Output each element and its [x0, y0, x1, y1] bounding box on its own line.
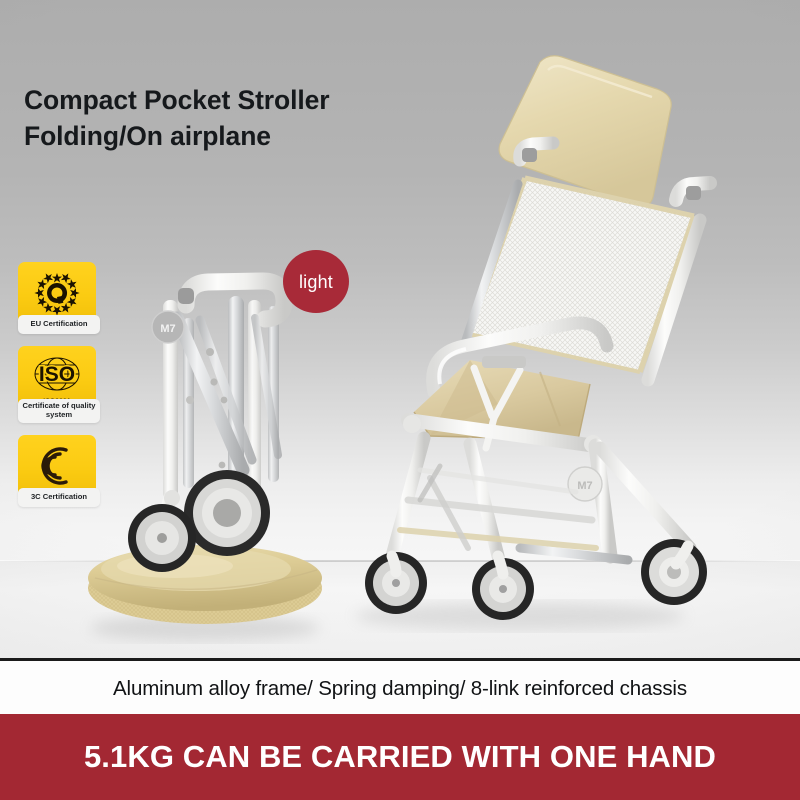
- svg-text:M7: M7: [577, 480, 592, 492]
- bubble-body: light: [283, 250, 349, 313]
- cert-label-eu: EU Certification: [18, 315, 100, 334]
- product-poster: M7: [0, 0, 800, 800]
- feature-caption-text: Aluminum alloy frame/ Spring damping/ 8-…: [113, 677, 687, 701]
- headline: Compact Pocket Stroller Folding/On airpl…: [24, 82, 494, 155]
- certification-badges: EU Certification ISO ISO9001 Certificate…: [18, 262, 108, 519]
- feature-caption-strip: Aluminum alloy frame/ Spring damping/ 8-…: [0, 658, 800, 717]
- cert-badge-iso: ISO ISO9001 Certificate of quality syste…: [18, 346, 96, 423]
- headline-line-1: Compact Pocket Stroller: [24, 82, 494, 118]
- cert-badge-3c: 3C Certification: [18, 435, 96, 507]
- cert-badge-eu: EU Certification: [18, 262, 96, 334]
- folded-wheel-front: [128, 504, 196, 572]
- weight-banner-text: 5.1KG CAN BE CARRIED WITH ONE HAND: [84, 739, 716, 775]
- weight-banner: 5.1KG CAN BE CARRIED WITH ONE HAND: [0, 714, 800, 800]
- cert-label-iso: Certificate of quality system: [18, 399, 100, 423]
- bubble-text: light: [299, 273, 333, 291]
- beige-cushion: [88, 545, 322, 624]
- headline-line-2: Folding/On airplane: [24, 118, 494, 154]
- wheel-rear: [641, 539, 707, 605]
- folded-wheel-rear: [184, 470, 270, 556]
- cert-label-3c: 3C Certification: [18, 488, 100, 507]
- folded-stroller: M7: [88, 281, 322, 624]
- svg-text:ISO: ISO: [39, 363, 75, 386]
- light-callout-bubble: light: [283, 250, 349, 313]
- svg-text:M7: M7: [160, 323, 175, 335]
